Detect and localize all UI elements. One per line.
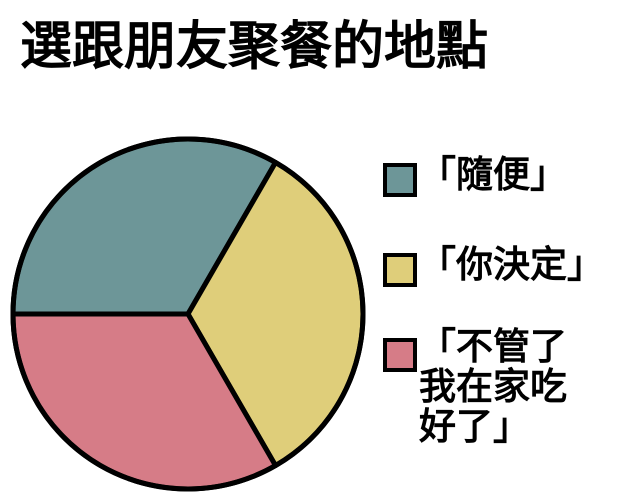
legend-item-label: 「你決定」	[419, 245, 604, 285]
pie-chart-svg	[5, 136, 371, 494]
pie-chart-meme: 選跟朋友聚餐的地點 「隨便」 「你決定」 「不管了 我在家吃 好了」	[0, 0, 625, 503]
yellow-swatch	[383, 253, 417, 287]
pie-chart	[5, 136, 371, 494]
legend-item-label: 「不管了 我在家吃 好了」	[419, 327, 567, 447]
teal-swatch	[383, 163, 417, 197]
page-title: 選跟朋友聚餐的地點	[20, 16, 605, 88]
pink-swatch	[383, 338, 417, 372]
legend: 「隨便」 「你決定」 「不管了 我在家吃 好了」	[379, 152, 625, 497]
legend-item-label: 「隨便」	[419, 155, 567, 195]
